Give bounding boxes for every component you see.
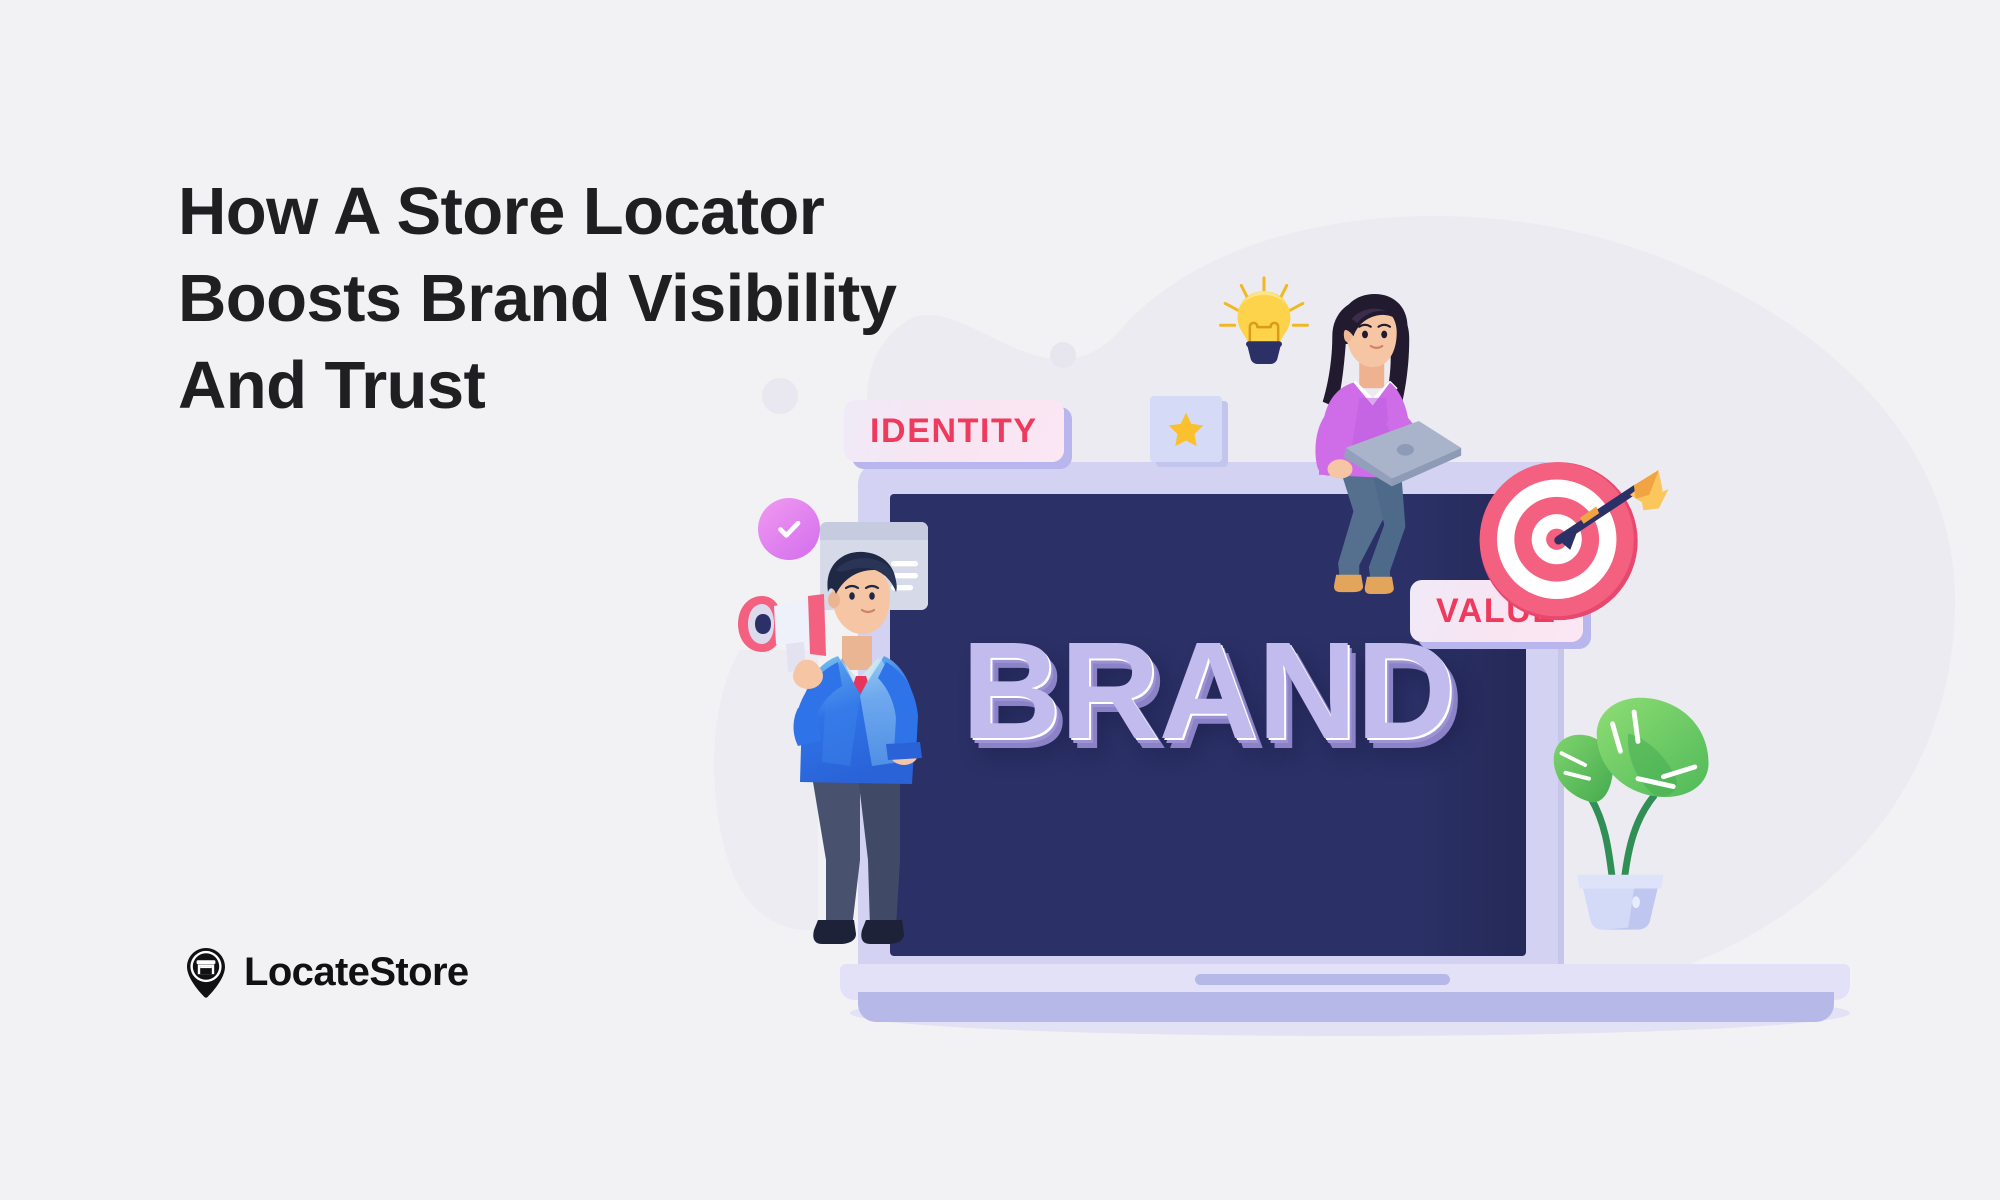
star-card xyxy=(1150,396,1222,462)
map-pin-store-icon xyxy=(178,944,234,1000)
woman-with-laptop xyxy=(1240,286,1490,609)
decorative-circle-large xyxy=(762,378,798,414)
banner-canvas: How A Store Locator Boosts Brand Visibil… xyxy=(0,0,2000,1200)
hero-illustration: BRAND xyxy=(840,300,1960,1060)
decorative-circle-small xyxy=(1050,342,1076,368)
laptop-trackpad-notch xyxy=(1195,974,1450,985)
star-icon xyxy=(1166,409,1206,449)
tag-identity-label: IDENTITY xyxy=(870,412,1038,451)
laptop-base-lip xyxy=(858,992,1834,1022)
headline-line-1: How A Store Locator xyxy=(178,168,1078,255)
monstera-plant-icon xyxy=(1540,694,1736,935)
logo-wordmark: LocateStore xyxy=(244,952,469,992)
brand-logo[interactable]: LocateStore xyxy=(178,944,469,1000)
tag-identity[interactable]: IDENTITY xyxy=(844,400,1064,462)
man-with-megaphone xyxy=(700,530,1000,965)
target-arrow-icon xyxy=(1470,448,1682,647)
